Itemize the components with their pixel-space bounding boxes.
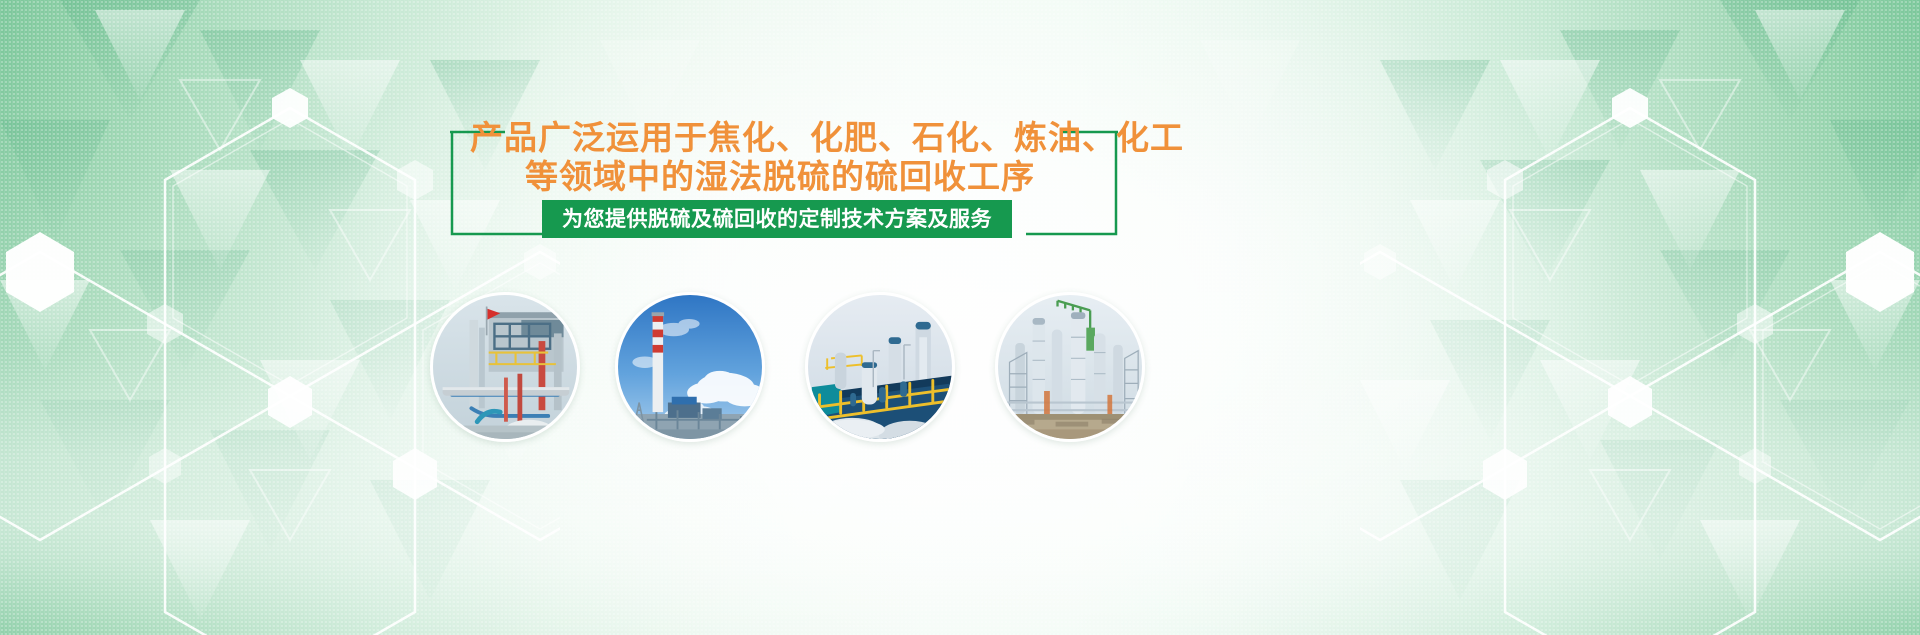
photo-circle-1[interactable] — [430, 292, 580, 442]
photo-refinery-tanks-walkways — [808, 295, 952, 439]
photo-circle-row — [0, 0, 1920, 635]
photo-refinery-towers-crane — [998, 295, 1142, 439]
photo-plant-chimney-blue-sky — [618, 295, 762, 439]
banner-content: 产品广泛运用于焦化、化肥、石化、炼油、化工 等领域中的湿法脱硫的硫回收工序 为您… — [0, 0, 1920, 635]
photo-circle-3[interactable] — [805, 292, 955, 442]
photo-circle-4[interactable] — [995, 292, 1145, 442]
photo-circle-2[interactable] — [615, 292, 765, 442]
hero-banner: 产品广泛运用于焦化、化肥、石化、炼油、化工 等领域中的湿法脱硫的硫回收工序 为您… — [0, 0, 1920, 635]
photo-chemical-plant-piping — [433, 295, 577, 439]
